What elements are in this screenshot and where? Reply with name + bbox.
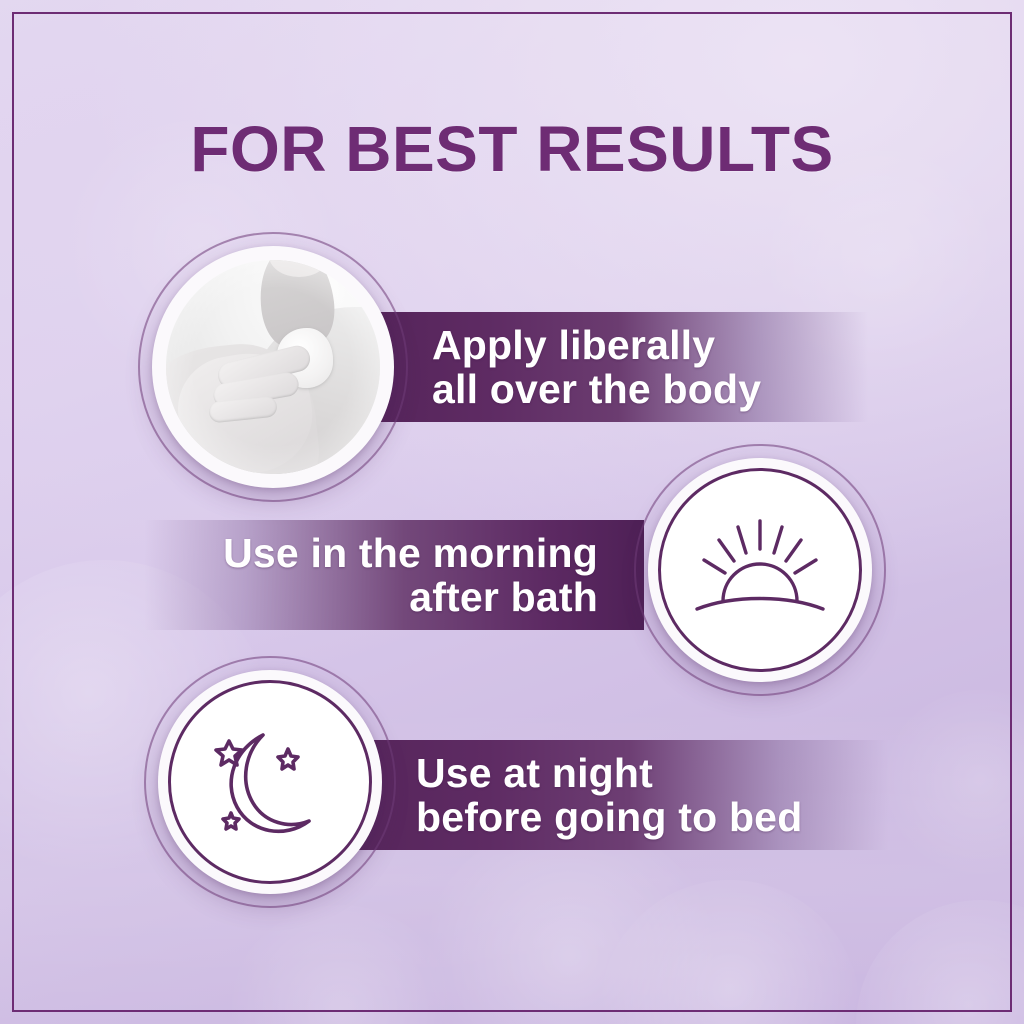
- bokeh-bubble: [880, 690, 1024, 890]
- bokeh-bubble: [600, 880, 860, 1024]
- step-text-morning: Use in the morning after bath: [223, 531, 598, 620]
- step-band-morning: Use in the morning after bath: [144, 520, 644, 630]
- sunrise-icon: [675, 485, 845, 655]
- sunrise-icon-frame: [658, 468, 862, 672]
- bokeh-bubble: [420, 820, 720, 1024]
- step-band-night: Use at night before going to bed: [348, 740, 888, 850]
- bokeh-bubble: [856, 900, 1024, 1024]
- step-text-night: Use at night before going to bed: [416, 751, 802, 840]
- poster-canvas: FOR BEST RESULTS Apply liberally all ove…: [0, 0, 1024, 1024]
- step-band-apply: Apply liberally all over the body: [368, 312, 868, 422]
- step-medallion-night: [158, 670, 382, 894]
- step-text-apply: Apply liberally all over the body: [432, 323, 761, 412]
- applying-cream-photo: [166, 260, 380, 474]
- crescent-moon-stars-icon: [185, 697, 355, 867]
- page-title: FOR BEST RESULTS: [0, 112, 1024, 186]
- crescent-moon-stars-icon-frame: [168, 680, 372, 884]
- bokeh-bubble: [226, 905, 456, 1024]
- applying-cream-photo-frame: [166, 260, 380, 474]
- step-medallion-morning: [648, 458, 872, 682]
- step-medallion-apply: [152, 246, 394, 488]
